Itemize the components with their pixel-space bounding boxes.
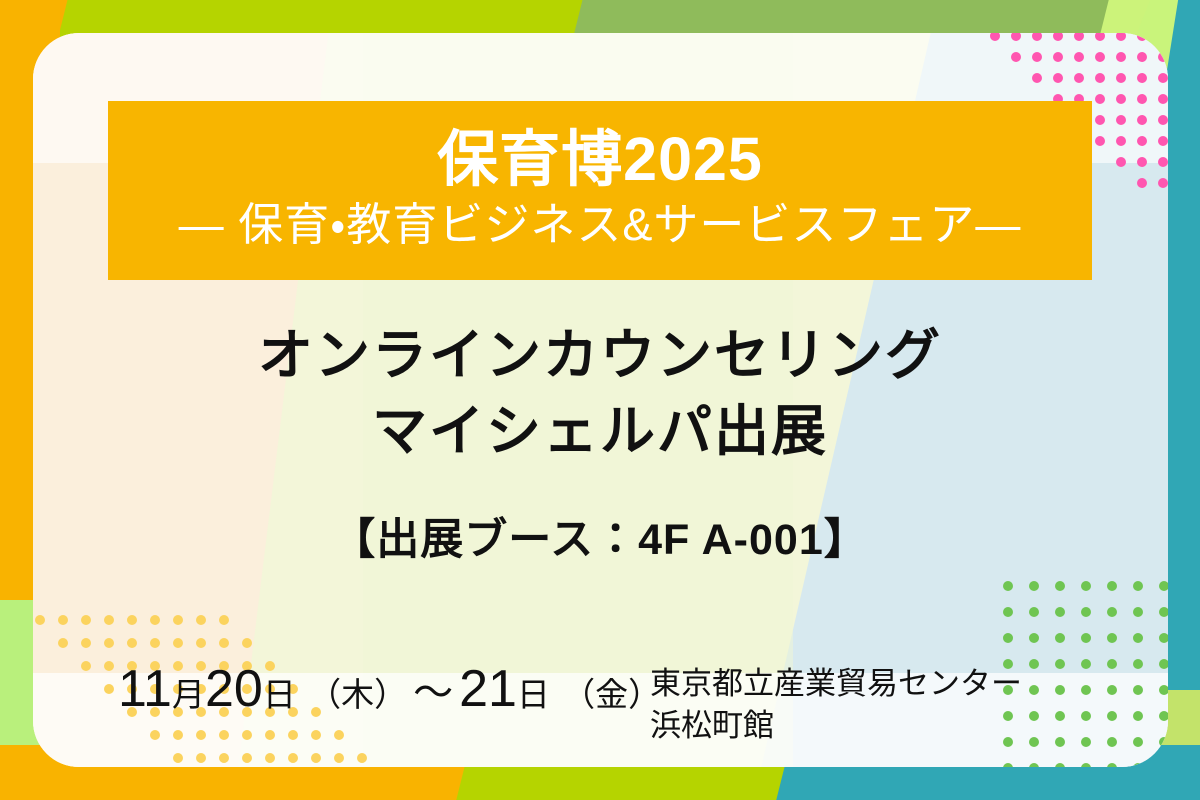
decorative-dot <box>1137 52 1147 62</box>
decorative-dot <box>1158 178 1168 188</box>
decorative-dot <box>1133 607 1143 617</box>
decorative-dot <box>1116 52 1126 62</box>
decorative-dot <box>1003 607 1013 617</box>
decorative-dot <box>1029 763 1039 767</box>
date-month: 11 <box>118 660 172 718</box>
decorative-dot <box>58 638 68 648</box>
decorative-dot <box>1137 115 1147 125</box>
decorative-dot <box>1133 581 1143 591</box>
decorative-dot <box>1159 581 1168 591</box>
date-weekday-start: （木） <box>308 676 407 713</box>
decorative-dot <box>1137 94 1147 104</box>
decorative-dot <box>127 638 137 648</box>
decorative-dot <box>1159 633 1168 643</box>
decorative-dot <box>1029 607 1039 617</box>
decorative-dot <box>1158 73 1168 83</box>
decorative-dot <box>242 638 252 648</box>
venue: 東京都立産業貿易センター 浜松町館 <box>650 663 1022 747</box>
decorative-dot <box>1032 52 1042 62</box>
banner-subtitle: ― 保育・教育ビジネス&サービスフェア― <box>179 197 1022 253</box>
decorative-dot <box>1003 633 1013 643</box>
decorative-dot <box>1158 136 1168 146</box>
decorative-dot <box>1095 52 1105 62</box>
decorative-dot <box>1081 763 1091 767</box>
date-weekday-end: （金） <box>562 676 661 713</box>
decorative-dot <box>1074 73 1084 83</box>
decorative-dot <box>1003 581 1013 591</box>
decorative-dot <box>1137 73 1147 83</box>
decorative-dot <box>1081 607 1091 617</box>
title-banner: 保育博2025 ― 保育・教育ビジネス&サービスフェア― <box>108 101 1092 280</box>
decorative-dot <box>127 615 137 625</box>
decorative-dot <box>219 615 229 625</box>
decorative-dot <box>1095 136 1105 146</box>
decorative-dot <box>1116 115 1126 125</box>
decorative-dot <box>1133 763 1143 767</box>
decorative-dot <box>1095 94 1105 104</box>
poster-footer: 11月20日 （木）〜21日 （金） 東京都立産業貿易センター 浜松町館 <box>0 655 1200 755</box>
decorative-dot <box>1032 73 1042 83</box>
date-day-end: 21 <box>459 660 517 718</box>
decorative-dot <box>150 638 160 648</box>
decorative-dot <box>1055 633 1065 643</box>
headline-line-1: オンラインカウンセリング <box>0 318 1200 394</box>
decorative-dot <box>219 638 229 648</box>
decorative-dot <box>1133 633 1143 643</box>
decorative-dot <box>1158 52 1168 62</box>
decorative-dot <box>1107 633 1117 643</box>
decorative-dot <box>35 615 45 625</box>
decorative-dot <box>196 638 206 648</box>
decorative-dot <box>1053 73 1063 83</box>
decorative-dot <box>173 615 183 625</box>
date-day-unit: 日 <box>263 676 296 713</box>
headline: オンラインカウンセリング マイシェルパ出展 <box>0 318 1200 470</box>
decorative-dot <box>1158 157 1168 167</box>
decorative-dot <box>1159 607 1168 617</box>
decorative-dot <box>173 638 183 648</box>
decorative-dot <box>196 615 206 625</box>
decorative-dot <box>1011 52 1021 62</box>
date-month-unit: 月 <box>172 676 205 713</box>
decorative-dot <box>1116 73 1126 83</box>
decorative-dot <box>81 638 91 648</box>
decorative-dot <box>81 615 91 625</box>
event-date: 11月20日 （木）〜21日 （金） <box>118 659 661 719</box>
decorative-dot <box>1137 178 1147 188</box>
decorative-dot <box>1003 763 1013 767</box>
decorative-dot <box>1107 763 1117 767</box>
decorative-dot <box>1116 94 1126 104</box>
decorative-dot <box>1055 581 1065 591</box>
decorative-dot <box>1095 115 1105 125</box>
decorative-dot <box>1081 633 1091 643</box>
decorative-dot <box>1107 607 1117 617</box>
decorative-dot <box>1074 52 1084 62</box>
headline-line-2: マイシェルパ出展 <box>0 394 1200 470</box>
venue-line-2: 浜松町館 <box>650 705 1022 747</box>
decorative-dot <box>1158 115 1168 125</box>
decorative-dot <box>1137 136 1147 146</box>
date-range-separator: 〜 <box>407 671 459 715</box>
decorative-dot <box>1107 581 1117 591</box>
decorative-dot <box>1116 157 1126 167</box>
date-day-start: 20 <box>205 660 263 718</box>
decorative-dot <box>1055 607 1065 617</box>
decorative-dot <box>1137 157 1147 167</box>
booth-number: 【出展ブース：4F A-001】 <box>0 505 1200 567</box>
decorative-dot <box>1158 94 1168 104</box>
decorative-dot <box>1081 581 1091 591</box>
venue-line-1: 東京都立産業貿易センター <box>650 663 1022 705</box>
decorative-dot <box>1159 763 1168 767</box>
decorative-dot <box>1053 52 1063 62</box>
decorative-dot <box>1029 581 1039 591</box>
decorative-dot <box>150 615 160 625</box>
decorative-dot <box>1029 633 1039 643</box>
decorative-dot <box>104 638 114 648</box>
decorative-dot <box>58 615 68 625</box>
decorative-dot <box>1055 763 1065 767</box>
decorative-dot <box>104 615 114 625</box>
decorative-dot <box>1095 73 1105 83</box>
event-poster: 保育博2025 ― 保育・教育ビジネス&サービスフェア― オンラインカウンセリン… <box>0 0 1200 800</box>
date-day-end-unit: 日 <box>517 676 550 713</box>
decorative-dot <box>1116 136 1126 146</box>
banner-title: 保育博2025 <box>437 127 763 191</box>
